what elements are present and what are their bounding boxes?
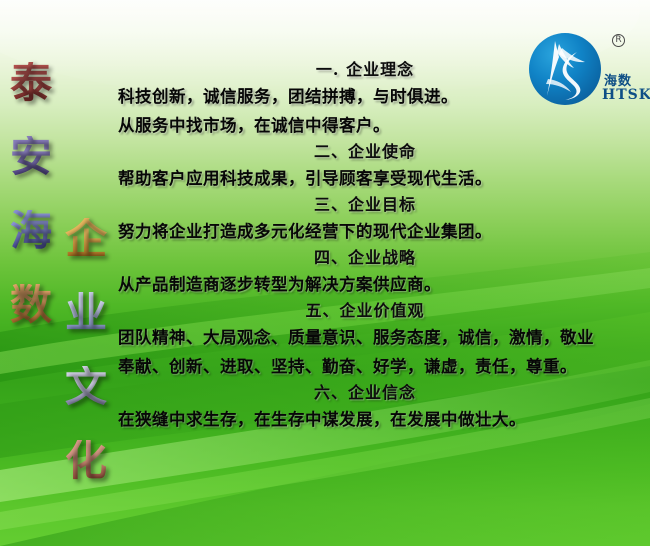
- vertical-char: 化: [65, 440, 107, 482]
- section-line: 在狭缝中求生存，在生存中谋发展，在发展中做壮大。: [118, 405, 638, 434]
- section-line: 努力将企业打造成多元化经营下的现代企业集团。: [118, 217, 638, 246]
- sections-container: 一. 企业理念科技创新，诚信服务，团结拼搏，与时俱进。从服务中找市场，在诚信中得…: [118, 58, 638, 434]
- section-line: 团队精神、大局观念、质量意识、服务态度，诚信，激情，敬业: [118, 323, 638, 352]
- section: 二、企业使命帮助客户应用科技成果，引导顾客享受现代生活。: [118, 140, 638, 193]
- vertical-char: 数: [10, 284, 52, 326]
- registered-trademark-icon: R: [612, 34, 625, 47]
- section-title: 六、企业信念: [118, 381, 638, 405]
- section: 一. 企业理念科技创新，诚信服务，团结拼搏，与时俱进。从服务中找市场，在诚信中得…: [118, 58, 638, 140]
- section-title: 三、企业目标: [118, 193, 638, 217]
- section-line: 从产品制造商逐步转型为解决方案供应商。: [118, 270, 638, 299]
- section: 六、企业信念在狭缝中求生存，在生存中谋发展，在发展中做壮大。: [118, 381, 638, 434]
- section-title: 四、企业战略: [118, 246, 638, 270]
- section-title: 一. 企业理念: [118, 58, 638, 82]
- section: 五、企业价值观团队精神、大局观念、质量意识、服务态度，诚信，激情，敬业奉献、创新…: [118, 299, 638, 381]
- vertical-char: 泰: [10, 62, 52, 104]
- section: 三、企业目标努力将企业打造成多元化经营下的现代企业集团。: [118, 193, 638, 246]
- vertical-char: 海: [10, 210, 52, 252]
- vertical-char: 文: [65, 366, 107, 408]
- corporate-culture-poster: R 海数 HTSK 泰安海数 企业文化 一. 企业理念科技创新，诚信服务，团结拼…: [0, 0, 650, 546]
- company-name-column: 泰安海数: [10, 62, 52, 358]
- section-line: 帮助客户应用科技成果，引导顾客享受现代生活。: [118, 164, 638, 193]
- section-title: 五、企业价值观: [118, 299, 638, 323]
- section: 四、企业战略从产品制造商逐步转型为解决方案供应商。: [118, 246, 638, 299]
- section-line: 奉献、创新、进取、坚持、勤奋、好学，谦虚，责任，尊重。: [118, 352, 638, 381]
- section-line: 从服务中找市场，在诚信中得客户。: [118, 111, 638, 140]
- vertical-char: 企: [65, 218, 107, 260]
- corporate-culture-column: 企业文化: [65, 218, 107, 514]
- vertical-char: 业: [65, 292, 107, 334]
- section-title: 二、企业使命: [118, 140, 638, 164]
- section-line: 科技创新，诚信服务，团结拼搏，与时俱进。: [118, 82, 638, 111]
- vertical-char: 安: [10, 136, 52, 178]
